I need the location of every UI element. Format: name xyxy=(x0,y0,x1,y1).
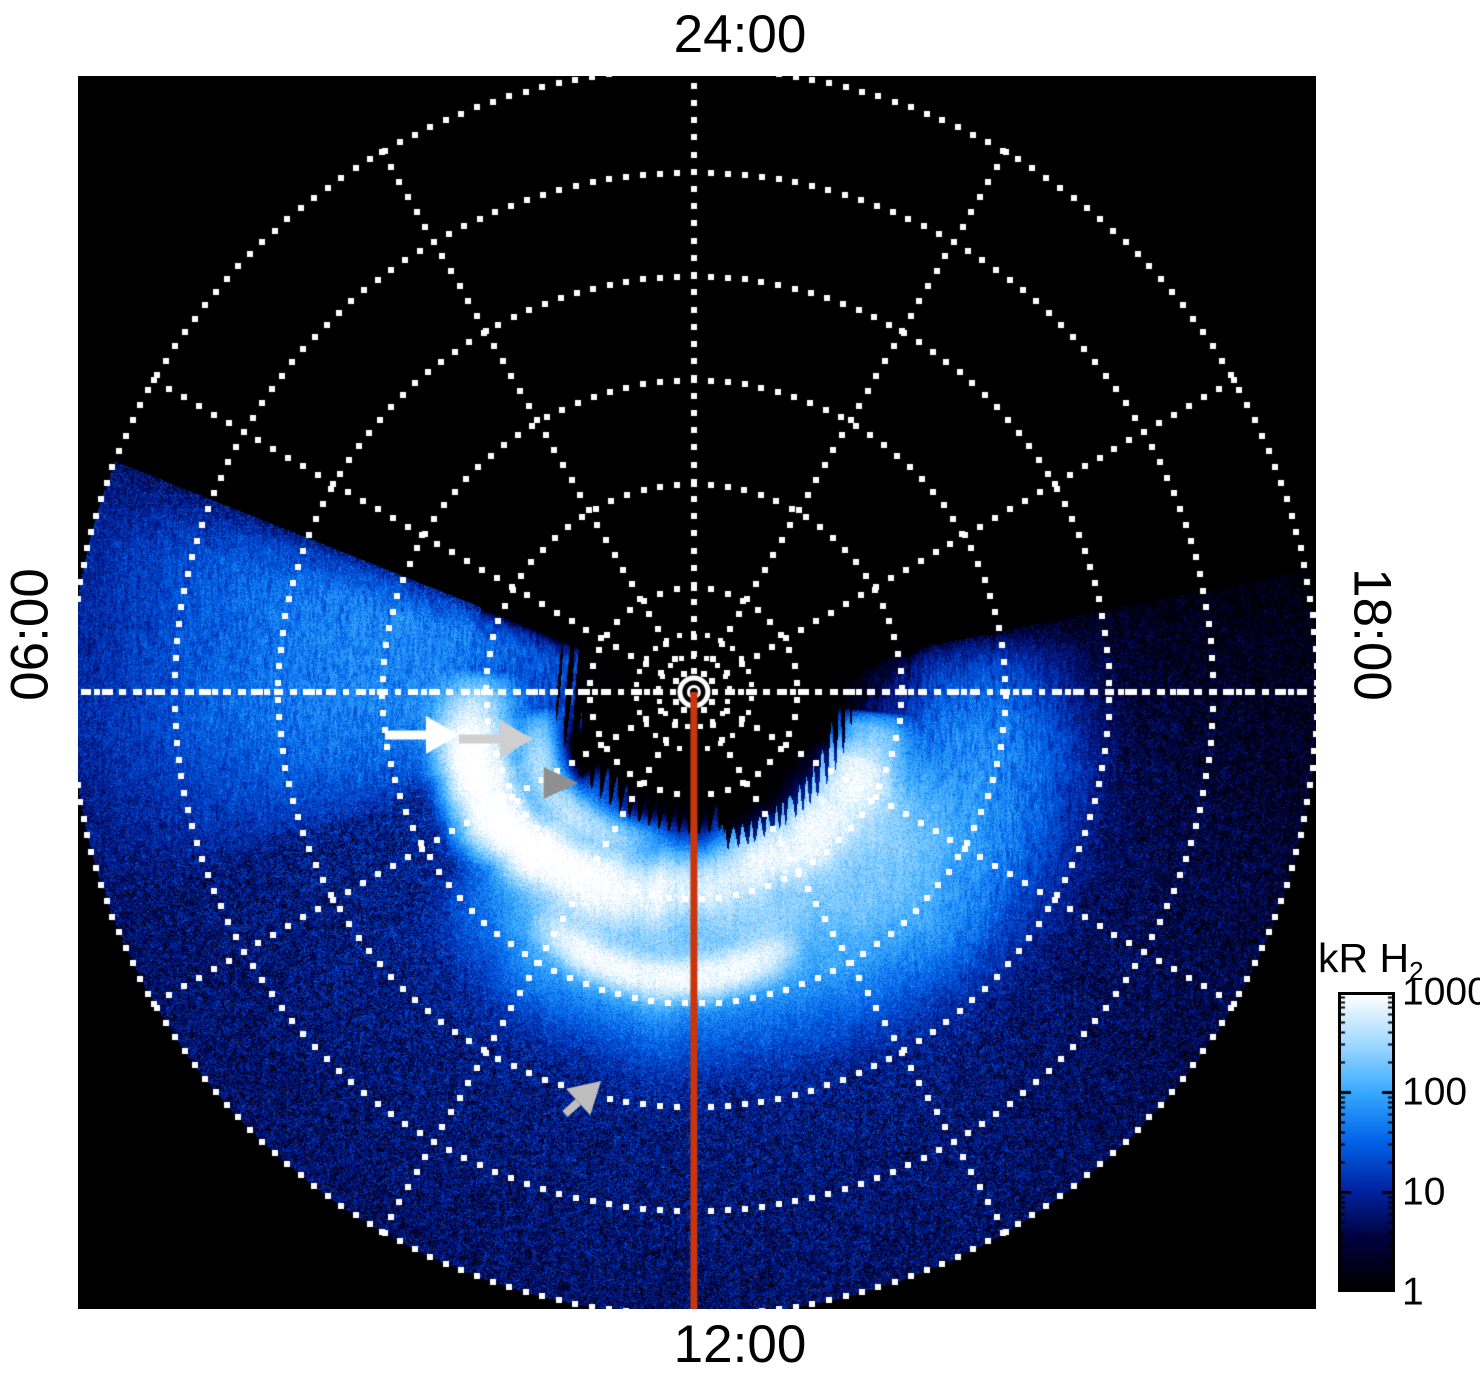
clock-label-midnight: 24:00 xyxy=(0,8,1480,61)
clock-label-dusk: 18:00 xyxy=(1346,525,1399,745)
colorbar-tick-label: 1 xyxy=(1402,1273,1424,1312)
colorbar-tick-label: 100 xyxy=(1402,1073,1467,1112)
colorbar: kR H2 1000100101 xyxy=(1318,938,1480,1310)
colorbar-tick-label: 10 xyxy=(1402,1173,1445,1212)
colorbar-ticks xyxy=(1338,992,1395,1292)
polar-plot-area xyxy=(78,76,1316,1309)
colorbar-title-text: kR H xyxy=(1318,935,1409,981)
clock-label-noon: 12:00 xyxy=(0,1318,1480,1371)
colorbar-tick-label: 1000 xyxy=(1402,973,1480,1012)
clock-label-dawn: 06:00 xyxy=(4,525,57,745)
figure-root: { "figure": { "type": "polar-auroral-ima… xyxy=(0,0,1480,1384)
auroral-image-canvas xyxy=(78,76,1316,1309)
